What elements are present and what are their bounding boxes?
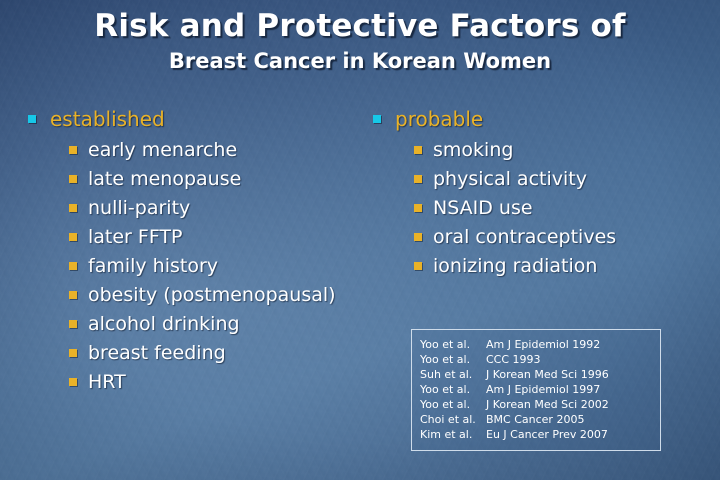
- list-item-label: obesity (postmenopausal): [88, 283, 336, 307]
- reference-author: Yoo et al.: [420, 338, 486, 352]
- reference-row: Kim et al. Eu J Cancer Prev 2007: [420, 427, 660, 442]
- reference-citation: J Korean Med Sci 2002: [486, 398, 609, 412]
- list-item: HRT: [28, 367, 368, 396]
- list-item: NSAID use: [373, 193, 703, 222]
- reference-row: Yoo et al. J Korean Med Sci 2002: [420, 397, 660, 412]
- list-item: physical activity: [373, 164, 703, 193]
- list-item: oral contraceptives: [373, 222, 703, 251]
- reference-author: Yoo et al.: [420, 353, 486, 367]
- square-bullet-icon: [414, 175, 422, 183]
- reference-row: Yoo et al. Am J Epidemiol 1997: [420, 382, 660, 397]
- list-item-label: late menopause: [88, 167, 241, 191]
- square-bullet-icon: [373, 115, 381, 123]
- list-item: obesity (postmenopausal): [28, 280, 368, 309]
- list-item-label: smoking: [433, 138, 513, 162]
- list-item-label: nulli-parity: [88, 196, 190, 220]
- list-item-label: family history: [88, 254, 218, 278]
- column-established: established early menarche late menopaus…: [28, 106, 368, 396]
- group-heading-probable: probable: [373, 106, 703, 132]
- probable-factor-list: smoking physical activity NSAID use oral…: [373, 135, 703, 280]
- reference-citation: CCC 1993: [486, 353, 541, 367]
- list-item: ionizing radiation: [373, 251, 703, 280]
- square-bullet-icon: [414, 262, 422, 270]
- square-bullet-icon: [414, 204, 422, 212]
- reference-author: Yoo et al.: [420, 398, 486, 412]
- list-item-label: alcohol drinking: [88, 312, 240, 336]
- reference-citation: J Korean Med Sci 1996: [486, 368, 609, 382]
- square-bullet-icon: [69, 175, 77, 183]
- list-item-label: breast feeding: [88, 341, 226, 365]
- list-item: late menopause: [28, 164, 368, 193]
- reference-citation: Am J Epidemiol 1997: [486, 383, 600, 397]
- reference-row: Yoo et al. CCC 1993: [420, 352, 660, 367]
- square-bullet-icon: [28, 115, 36, 123]
- list-item-label: NSAID use: [433, 196, 533, 220]
- list-item-label: HRT: [88, 370, 126, 394]
- group-heading-label: probable: [395, 107, 483, 131]
- group-heading-established: established: [28, 106, 368, 132]
- references-box: Yoo et al. Am J Epidemiol 1992 Yoo et al…: [411, 329, 661, 451]
- square-bullet-icon: [69, 320, 77, 328]
- square-bullet-icon: [69, 146, 77, 154]
- square-bullet-icon: [69, 349, 77, 357]
- reference-author: Choi et al.: [420, 413, 486, 427]
- list-item: nulli-parity: [28, 193, 368, 222]
- reference-author: Yoo et al.: [420, 383, 486, 397]
- square-bullet-icon: [69, 291, 77, 299]
- list-item-label: physical activity: [433, 167, 587, 191]
- list-item-label: oral contraceptives: [433, 225, 616, 249]
- square-bullet-icon: [414, 233, 422, 241]
- title-block: Risk and Protective Factors of Breast Ca…: [0, 6, 720, 75]
- column-probable: probable smoking physical activity NSAID…: [373, 106, 703, 280]
- list-item: later FFTP: [28, 222, 368, 251]
- reference-row: Choi et al. BMC Cancer 2005: [420, 412, 660, 427]
- list-item-label: early menarche: [88, 138, 237, 162]
- list-item-label: ionizing radiation: [433, 254, 597, 278]
- square-bullet-icon: [69, 378, 77, 386]
- list-item: breast feeding: [28, 338, 368, 367]
- page-subtitle: Breast Cancer in Korean Women: [0, 47, 720, 75]
- group-heading-label: established: [50, 107, 165, 131]
- reference-citation: BMC Cancer 2005: [486, 413, 584, 427]
- square-bullet-icon: [69, 262, 77, 270]
- reference-citation: Eu J Cancer Prev 2007: [486, 428, 608, 442]
- list-item: alcohol drinking: [28, 309, 368, 338]
- reference-author: Kim et al.: [420, 428, 486, 442]
- list-item-label: later FFTP: [88, 225, 183, 249]
- square-bullet-icon: [414, 146, 422, 154]
- reference-author: Suh et al.: [420, 368, 486, 382]
- square-bullet-icon: [69, 204, 77, 212]
- reference-row: Suh et al. J Korean Med Sci 1996: [420, 367, 660, 382]
- list-item: smoking: [373, 135, 703, 164]
- reference-citation: Am J Epidemiol 1992: [486, 338, 600, 352]
- established-factor-list: early menarche late menopause nulli-pari…: [28, 135, 368, 396]
- list-item: early menarche: [28, 135, 368, 164]
- square-bullet-icon: [69, 233, 77, 241]
- presentation-slide: Risk and Protective Factors of Breast Ca…: [0, 0, 720, 480]
- reference-row: Yoo et al. Am J Epidemiol 1992: [420, 337, 660, 352]
- list-item: family history: [28, 251, 368, 280]
- page-title: Risk and Protective Factors of: [0, 6, 720, 46]
